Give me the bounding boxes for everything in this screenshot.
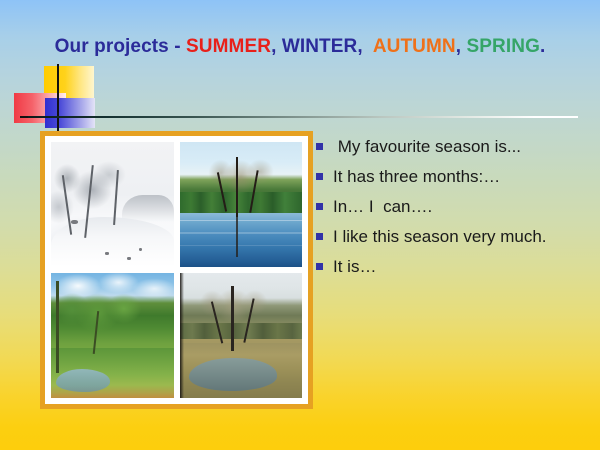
winter-speck — [127, 257, 131, 260]
summer-canopy — [58, 283, 146, 341]
spring-tree-crown — [204, 147, 280, 212]
winter-speck — [71, 220, 78, 224]
spring-trunk-reflection — [236, 212, 238, 257]
bullet-item-label: It has three months:… — [333, 166, 588, 187]
title-segment-5: AUTUMN — [373, 36, 456, 57]
spring-water-shimmer — [180, 232, 303, 234]
summer-pond — [56, 369, 110, 392]
title-segment-7: SPRING — [467, 36, 540, 57]
bullet-square-icon — [316, 233, 323, 240]
photo-summer — [51, 273, 174, 398]
spring-water-shimmer — [180, 220, 303, 222]
title-segment-0: Our projects - — [55, 36, 186, 57]
photo-spring — [180, 142, 303, 267]
autumn-stream — [189, 358, 277, 391]
list-item: My favourite season is... — [316, 136, 588, 157]
bullet-square-icon — [316, 263, 323, 270]
autumn-dark-edge — [180, 273, 185, 398]
bullet-item-label: I like this season very much. — [333, 226, 588, 247]
bullet-item-label: My favourite season is... — [333, 136, 588, 157]
title-segment-4: , — [357, 36, 372, 57]
title-segment-1: SUMMER — [186, 36, 271, 57]
summer-trunk — [56, 281, 59, 374]
photo-winter — [51, 142, 174, 267]
photo-mat — [45, 136, 308, 404]
bullet-square-icon — [316, 203, 323, 210]
bullet-item-label: In… I can…. — [333, 196, 588, 217]
autumn-bare-crown — [197, 278, 273, 336]
title-segment-6: , — [456, 36, 467, 57]
list-item: In… I can…. — [316, 196, 588, 217]
list-item: It is… — [316, 256, 588, 277]
presentation-slide: Our projects - SUMMER, WINTER, AUTUMN, S… — [0, 0, 600, 450]
bullet-item-label: It is… — [333, 256, 588, 277]
list-item: I like this season very much. — [316, 226, 588, 247]
title-divider-rule — [28, 116, 578, 118]
spring-trunk — [236, 157, 239, 217]
winter-speck — [105, 252, 109, 255]
title-segment-2: , — [271, 36, 282, 57]
page-title: Our projects - SUMMER, WINTER, AUTUMN, S… — [0, 33, 600, 60]
list-item: It has three months:… — [316, 166, 588, 187]
seasons-collage — [51, 142, 302, 398]
title-segment-3: WINTER — [282, 36, 358, 57]
photo-autumn — [180, 273, 303, 398]
bullet-list: My favourite season is...It has three mo… — [316, 136, 588, 286]
vertical-line-icon — [57, 64, 59, 132]
decorative-squares-logo — [14, 66, 122, 132]
blue-square-icon — [45, 98, 95, 128]
photo-frame — [40, 131, 313, 409]
autumn-trunk — [231, 286, 234, 351]
spring-water-shimmer — [180, 245, 303, 247]
bullet-square-icon — [316, 173, 323, 180]
bullet-square-icon — [316, 143, 323, 150]
title-segment-8: . — [540, 36, 545, 57]
spring-lake — [180, 213, 303, 267]
